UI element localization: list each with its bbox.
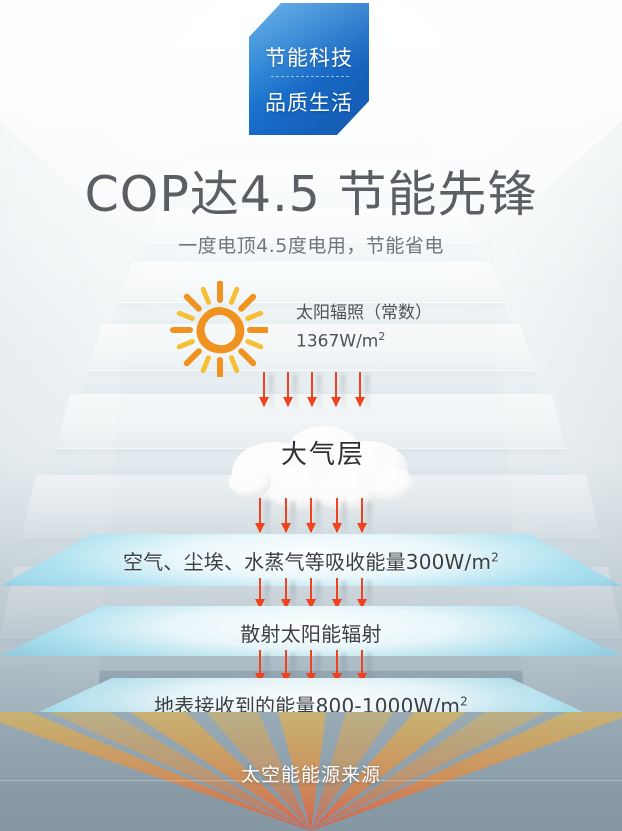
arrows-sun-to-cloud [262, 372, 362, 406]
sun-ray [203, 289, 208, 302]
down-arrow [309, 578, 313, 608]
badge-separator [271, 76, 349, 77]
down-arrow [258, 578, 262, 608]
down-arrow [258, 498, 262, 532]
sun-ray [248, 313, 261, 318]
down-arrow [284, 498, 288, 532]
down-arrow [360, 578, 364, 608]
sun-ray [187, 351, 199, 363]
down-arrow [284, 650, 288, 682]
band-scatter: 散射太阳能辐射 [0, 606, 622, 656]
energy-infographic-poster: 节能科技 品质生活 COP达4.5 节能先锋 一度电顶4.5度电用，节能省电 太… [0, 0, 622, 831]
solar-irradiance-title: 太阳辐照（常数） [296, 302, 546, 325]
sun-ray [203, 358, 208, 371]
down-arrow [358, 372, 362, 406]
sun-ray [179, 313, 192, 318]
bottom-caption: 太空能能源来源 [0, 760, 622, 787]
sun-ray [248, 342, 261, 347]
sun-ray [241, 351, 253, 363]
solar-irradiance-value: 1367W/m2 [296, 325, 546, 354]
sun-ray [187, 297, 199, 309]
down-arrow [286, 372, 290, 406]
down-arrow [258, 650, 262, 682]
down-arrow [335, 650, 339, 682]
page-title: COP达4.5 节能先锋 [0, 166, 622, 224]
down-arrow [309, 498, 313, 532]
arrows-absorption-to-scatter [258, 578, 364, 608]
down-arrow [335, 578, 339, 608]
arrows-scatter-to-surface [258, 650, 364, 682]
down-arrow [309, 650, 313, 682]
badge-line-2: 品质生活 [249, 87, 369, 117]
sun-ray [241, 297, 253, 309]
band-scatter-label: 散射太阳能辐射 [0, 618, 622, 647]
down-arrow [310, 372, 314, 406]
stair-edge-highlight [0, 370, 622, 371]
down-arrow [360, 650, 364, 682]
arrows-cloud-to-absorption [258, 498, 364, 532]
badge-line-1: 节能科技 [249, 42, 369, 72]
down-arrow [262, 372, 266, 406]
down-arrow [334, 372, 338, 406]
sun-ray [232, 358, 237, 371]
down-arrow [284, 578, 288, 608]
energy-tech-badge: 节能科技 品质生活 [249, 3, 369, 135]
sun-ray [232, 289, 237, 302]
page-subtitle: 一度电顶4.5度电用，节能省电 [0, 231, 622, 258]
down-arrow [335, 498, 339, 532]
atmosphere-label: 大气层 [228, 434, 418, 471]
sun-icon [168, 281, 268, 377]
down-arrow [360, 498, 364, 532]
solar-irradiance-label: 太阳辐照（常数） 1367W/m2 [296, 302, 546, 354]
sun-ray [179, 342, 192, 347]
band-absorption-label: 空气、尘埃、水蒸气等吸收能量300W/m2 [0, 546, 622, 575]
